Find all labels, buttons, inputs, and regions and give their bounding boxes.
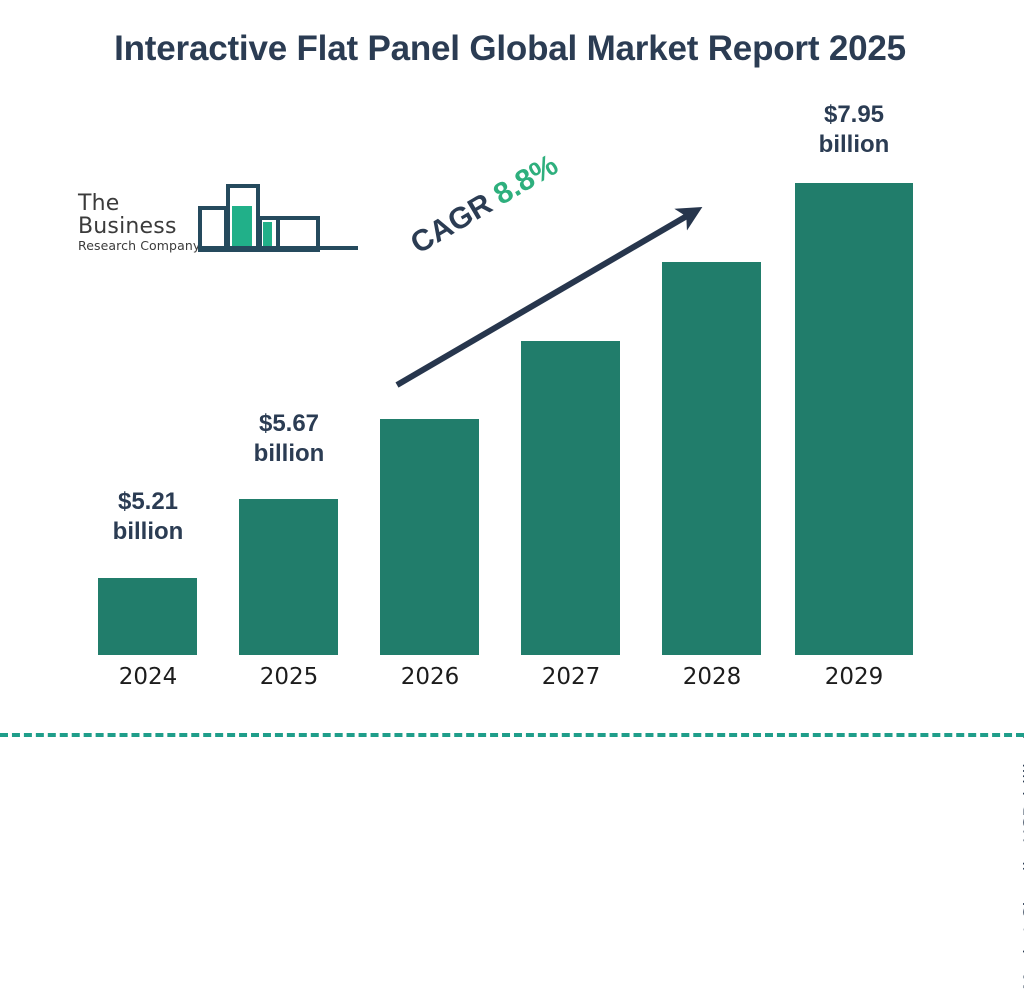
- bar-2024[interactable]: [98, 578, 197, 655]
- bar-value-label-2024-amount: $5.21: [78, 487, 218, 517]
- bar-2026[interactable]: [380, 419, 479, 655]
- bar-value-label-2025-amount: $5.67: [219, 409, 359, 439]
- x-tick-2026: 2026: [360, 664, 500, 690]
- x-tick-2025: 2025: [219, 664, 359, 690]
- bar-value-label-2025-unit: billion: [219, 439, 359, 469]
- bar-2025[interactable]: [239, 499, 338, 655]
- bar-value-label-2029: $7.95 billion: [784, 100, 924, 160]
- x-tick-2028: 2028: [642, 664, 782, 690]
- chart-canvas: Interactive Flat Panel Global Market Rep…: [0, 0, 1024, 768]
- bar-2029[interactable]: [795, 183, 913, 655]
- bar-value-label-2024: $5.21 billion: [78, 487, 218, 547]
- bar-value-label-2029-unit: billion: [784, 130, 924, 160]
- bar-2027[interactable]: [521, 341, 620, 655]
- bar-value-label-2025: $5.67 billion: [219, 409, 359, 469]
- footer-divider: [0, 733, 1024, 737]
- y-axis-title: Market Size (in USD billion): [1020, 660, 1024, 990]
- x-tick-2024: 2024: [78, 664, 218, 690]
- bar-value-label-2029-amount: $7.95: [784, 100, 924, 130]
- x-tick-2029: 2029: [784, 664, 924, 690]
- plot-area: $5.21 billion $5.67 billion $7.95 billio…: [0, 0, 1024, 768]
- bar-value-label-2024-unit: billion: [78, 517, 218, 547]
- x-tick-2027: 2027: [501, 664, 641, 690]
- bar-2028[interactable]: [662, 262, 761, 655]
